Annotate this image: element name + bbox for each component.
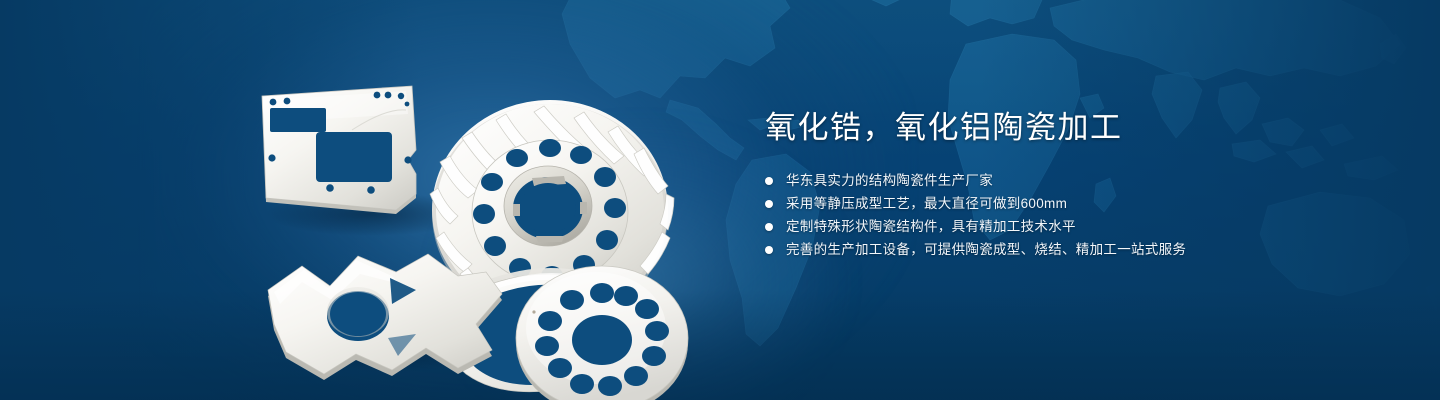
list-item: 华东具实力的结构陶瓷件生产厂家 xyxy=(765,170,1325,192)
ceramic-product-photo-group xyxy=(240,38,690,383)
feature-text: 华东具实力的结构陶瓷件生产厂家 xyxy=(786,170,993,192)
banner-headline: 氧化锆，氧化铝陶瓷加工 xyxy=(765,108,1325,148)
bullet-dot-icon xyxy=(765,246,773,254)
bullet-dot-icon xyxy=(765,200,773,208)
list-item: 完善的生产加工设备，可提供陶瓷成型、烧结、精加工一站式服务 xyxy=(765,239,1325,261)
feature-text: 采用等静压成型工艺，最大直径可做到600mm xyxy=(786,193,1067,215)
list-item: 定制特殊形状陶瓷结构件，具有精加工技术水平 xyxy=(765,216,1325,238)
list-item: 采用等静压成型工艺，最大直径可做到600mm xyxy=(765,193,1325,215)
feature-text: 完善的生产加工设备，可提供陶瓷成型、烧结、精加工一站式服务 xyxy=(786,239,1186,261)
banner-text-block: 氧化锆，氧化铝陶瓷加工 华东具实力的结构陶瓷件生产厂家 采用等静压成型工艺，最大… xyxy=(765,108,1325,262)
background-bottom-band xyxy=(0,290,1440,400)
banner-feature-list: 华东具实力的结构陶瓷件生产厂家 采用等静压成型工艺，最大直径可做到600mm 定… xyxy=(765,170,1325,261)
promo-banner: 氧化锆，氧化铝陶瓷加工 华东具实力的结构陶瓷件生产厂家 采用等静压成型工艺，最大… xyxy=(0,0,1440,400)
feature-text: 定制特殊形状陶瓷结构件，具有精加工技术水平 xyxy=(786,216,1076,238)
ceramic-perforated-disc xyxy=(516,266,688,400)
bullet-dot-icon xyxy=(765,223,773,231)
ceramic-mounting-plate xyxy=(262,86,416,214)
bullet-dot-icon xyxy=(765,177,773,185)
